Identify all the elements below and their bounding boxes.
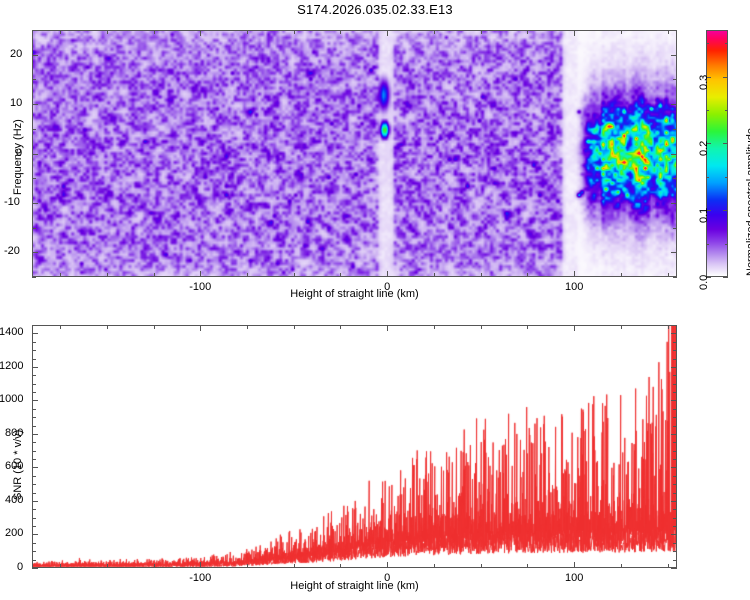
axis-tick [673,442,677,443]
axis-tick [200,325,201,331]
axis-tick [668,325,669,329]
spectrogram-canvas [33,31,677,277]
axis-tick [673,409,677,410]
axis-tick [481,325,482,329]
axis-tick [673,451,677,452]
axis-tick [574,325,575,331]
axis-tick [32,534,38,535]
axis-tick [32,367,38,368]
axis-tick [673,392,677,393]
axis-tick [671,333,677,334]
colorbar-tick-label: 0.0 [698,275,710,290]
axis-tick [32,543,36,544]
axis-tick [32,333,38,334]
axis-tick [673,30,677,31]
snr-panel [32,325,677,568]
axis-tick [673,417,677,418]
axis-tick [387,325,388,331]
axis-tick [481,273,482,277]
axis-tick [668,273,669,277]
snr-y-tick-label: 1000 [0,393,23,405]
spectrogram-x-axis-label: Height of straight line (km) [0,288,709,300]
axis-tick [32,501,38,502]
axis-tick [673,384,677,385]
axis-tick [32,252,38,253]
axis-tick [294,30,295,34]
axis-tick [340,564,341,568]
axis-tick [32,568,38,569]
snr-y-tick-label: 0 [17,561,23,573]
axis-tick [671,434,677,435]
axis-tick [671,55,677,56]
axis-tick [723,143,728,144]
colorbar-label: Normalized spectral amplitude [745,128,750,276]
axis-tick [340,325,341,329]
axis-tick [706,244,709,245]
axis-tick [673,342,677,343]
colorbar-tick-label: 0.3 [698,74,710,89]
axis-tick [723,210,728,211]
axis-tick [107,325,108,329]
axis-tick [32,509,36,510]
axis-tick [32,30,36,31]
figure-title: S174.2026.035.02.33.E13 [0,2,750,17]
axis-tick [60,564,61,568]
axis-tick [154,564,155,568]
axis-tick [32,359,36,360]
axis-tick [200,562,201,568]
spectrogram-y-tick-label: -20 [4,245,20,257]
axis-tick [671,367,677,368]
axis-tick [673,493,677,494]
spectrogram-y-tick-label: 20 [10,48,22,60]
axis-tick [574,271,575,277]
axis-tick [673,79,677,80]
axis-tick [32,342,36,343]
axis-tick [32,350,36,351]
axis-tick [574,30,575,36]
axis-tick [527,325,528,329]
axis-tick [673,359,677,360]
axis-tick [673,560,677,561]
axis-tick [671,534,677,535]
axis-tick [32,228,36,229]
axis-tick [32,154,38,155]
axis-tick [32,104,38,105]
axis-tick [154,273,155,277]
axis-tick [32,375,36,376]
axis-tick [60,30,61,34]
axis-tick [154,30,155,34]
axis-tick [725,244,728,245]
axis-tick [107,30,108,34]
axis-tick [32,526,36,527]
axis-tick [671,467,677,468]
snr-y-axis-label: SNR (10 * v/v) [12,430,24,500]
axis-tick [32,392,36,393]
axis-tick [706,177,709,178]
axis-tick [247,325,248,329]
axis-tick [671,400,677,401]
axis-tick [671,154,677,155]
axis-tick [387,30,388,36]
axis-tick [32,442,36,443]
axis-tick [673,543,677,544]
axis-tick [294,564,295,568]
axis-tick [32,400,38,401]
axis-tick [32,484,36,485]
axis-tick [673,178,677,179]
axis-tick [706,43,709,44]
figure-root: S174.2026.035.02.33.E13 -20-1001020 -100… [0,0,750,600]
axis-tick [294,273,295,277]
axis-tick [673,476,677,477]
axis-tick [32,451,36,452]
axis-tick [32,79,36,80]
axis-tick [706,110,709,111]
axis-tick [60,273,61,277]
axis-tick [481,564,482,568]
axis-tick [673,509,677,510]
axis-tick [247,564,248,568]
axis-tick [725,177,728,178]
axis-tick [32,409,36,410]
spectrogram-y-axis-label: Frequency (Hz) [12,119,24,195]
snr-x-axis-label: Height of straight line (km) [0,580,709,592]
spectrogram-y-tick-label: 10 [10,97,22,109]
snr-y-tick-label: 200 [5,527,23,539]
axis-tick [340,273,341,277]
axis-tick [200,30,201,36]
axis-tick [671,203,677,204]
axis-tick [673,551,677,552]
axis-tick [434,564,435,568]
axis-tick [671,104,677,105]
axis-tick [247,30,248,34]
axis-tick [671,501,677,502]
axis-tick [621,30,622,34]
axis-tick [387,562,388,568]
colorbar-tick-label: 0.2 [698,141,710,156]
axis-tick [32,426,36,427]
snr-canvas [33,326,677,568]
axis-tick [621,273,622,277]
axis-tick [32,203,38,204]
axis-tick [434,30,435,34]
axis-tick [32,417,36,418]
axis-tick [668,30,669,34]
axis-tick [673,129,677,130]
axis-tick [668,564,669,568]
axis-tick [673,426,677,427]
axis-tick [32,55,38,56]
axis-tick [621,564,622,568]
axis-tick [673,375,677,376]
axis-tick [32,467,38,468]
axis-tick [294,325,295,329]
axis-tick [32,551,36,552]
axis-tick [32,384,36,385]
axis-tick [387,271,388,277]
axis-tick [32,129,36,130]
spectrogram-panel [32,30,677,277]
axis-tick [107,273,108,277]
axis-tick [671,568,677,569]
axis-tick [32,434,38,435]
axis-tick [671,252,677,253]
axis-tick [32,277,36,278]
axis-tick [673,228,677,229]
axis-tick [481,30,482,34]
axis-tick [32,178,36,179]
axis-tick [32,459,36,460]
axis-tick [434,273,435,277]
axis-tick [673,526,677,527]
snr-y-tick-label: 1400 [0,326,23,338]
axis-tick [527,564,528,568]
axis-tick [107,564,108,568]
axis-tick [673,518,677,519]
spectrogram-y-tick-label: -10 [4,196,20,208]
axis-tick [673,484,677,485]
axis-tick [154,325,155,329]
snr-y-tick-label: 1200 [0,360,23,372]
axis-tick [725,110,728,111]
axis-tick [340,30,341,34]
colorbar-tick-label: 0.1 [698,208,710,223]
axis-tick [200,271,201,277]
axis-tick [723,77,728,78]
axis-tick [527,30,528,34]
axis-tick [434,325,435,329]
axis-tick [574,562,575,568]
axis-tick [723,277,728,278]
axis-tick [621,325,622,329]
axis-tick [673,350,677,351]
axis-tick [247,273,248,277]
axis-tick [725,43,728,44]
axis-tick [673,459,677,460]
axis-tick [60,325,61,329]
axis-tick [32,560,36,561]
axis-tick [32,518,36,519]
axis-tick [673,277,677,278]
axis-tick [32,493,36,494]
axis-tick [32,476,36,477]
axis-tick [527,273,528,277]
